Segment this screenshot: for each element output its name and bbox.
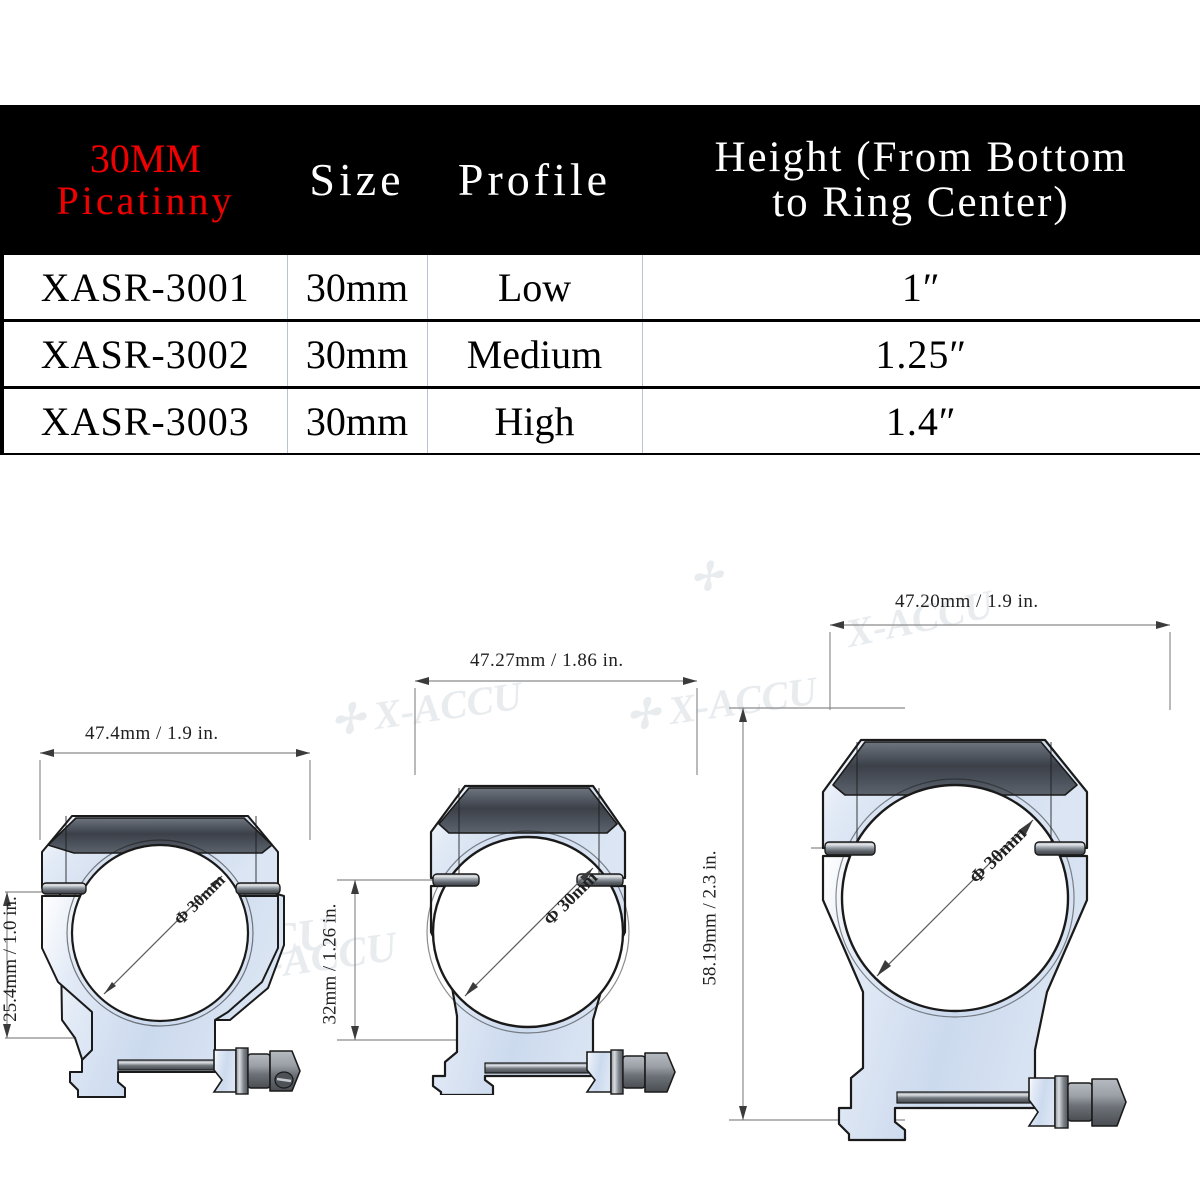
cell-size: 30mm (287, 255, 427, 321)
arrowhead (415, 677, 429, 685)
cell-size: 30mm (287, 321, 427, 388)
header-cell-height: Height (From Bottom to Ring Center) (642, 105, 1200, 255)
dimension-width-label-low: 47.4mm / 1.9 in. (85, 723, 219, 745)
clamp-plate (236, 1048, 248, 1094)
cell-model: XASR-3001 (2, 255, 287, 321)
cell-height: 1″ (642, 255, 1200, 321)
arrowhead (1156, 621, 1170, 629)
hex-nut (1092, 1079, 1126, 1126)
dimension-height-label-high: 58.19mm / 2.3 in. (700, 850, 722, 985)
header-profile-label: Profile (427, 156, 642, 204)
header-cell-size: Size (287, 105, 427, 255)
split-boss-left (433, 874, 479, 886)
diagram-low-profile: 47.4mm / 1.9 in. 25.4mm / 1.0 in. Φ 30mm (0, 720, 340, 1100)
cell-size: 30mm (287, 388, 427, 456)
recoil-lug (214, 1050, 236, 1092)
diagram-medium-profile: 47.27mm / 1.86 in. 32mm / 1.26 in. Φ 30m… (325, 640, 725, 1095)
split-boss-right (1035, 842, 1085, 855)
arrowhead (739, 708, 747, 722)
header-30mm-label: 30MM (4, 138, 287, 180)
arrowhead (683, 677, 697, 685)
cap-top-bevel (439, 788, 617, 833)
header-height-line2: to Ring Center) (642, 180, 1200, 225)
spec-table: 30MM Picatinny Size Profile Height (From… (0, 105, 1200, 457)
split-boss-left (825, 842, 875, 855)
header-cell-model: 30MM Picatinny (2, 105, 287, 255)
cell-profile: Low (427, 255, 642, 321)
bolt-shoulder (1068, 1083, 1092, 1121)
cell-profile: Medium (427, 321, 642, 388)
dimension-width-medium (415, 681, 697, 775)
dimension-width-label-high: 47.20mm / 1.9 in. (895, 591, 1039, 613)
table-header-row: 30MM Picatinny Size Profile Height (From… (2, 105, 1200, 255)
arrowhead (739, 1106, 747, 1120)
header-cell-profile: Profile (427, 105, 642, 255)
hex-nut (645, 1053, 675, 1092)
table-row: XASR-3001 30mm Low 1″ (2, 255, 1200, 321)
arrowhead (40, 749, 54, 757)
bolt-shoulder (248, 1054, 270, 1088)
arrowhead (296, 749, 310, 757)
table-row: XASR-3002 30mm Medium 1.25″ (2, 321, 1200, 388)
bolt-shoulder (623, 1056, 645, 1088)
dimension-width-high (830, 625, 1170, 710)
header-picatinny-label: Picatinny (4, 180, 287, 222)
cell-height: 1.4″ (642, 388, 1200, 456)
table-row: XASR-3003 30mm High 1.4″ (2, 388, 1200, 456)
clamp-plate (1055, 1076, 1068, 1128)
recoil-lug (587, 1052, 611, 1092)
cell-height: 1.25″ (642, 321, 1200, 388)
clamp-plate (611, 1050, 623, 1094)
cell-model: XASR-3003 (2, 388, 287, 456)
header-size-label: Size (287, 156, 427, 204)
cell-profile: High (427, 388, 642, 456)
arrowhead (351, 1026, 359, 1040)
header-height-line1: Height (From Bottom (642, 135, 1200, 180)
cross-bolt-rod (485, 1063, 589, 1073)
arrowhead (351, 880, 359, 894)
cross-bolt-rod (118, 1060, 218, 1070)
bore-circle (72, 845, 248, 1021)
split-boss-left (42, 883, 86, 894)
arrowhead (3, 1024, 11, 1038)
recoil-lug (1029, 1078, 1055, 1126)
diagram-high-profile: 47.20mm / 1.9 in. 58.19mm / 2.3 in. Φ 30… (715, 580, 1200, 1160)
dimension-height-label-medium: 32mm / 1.26 in. (319, 904, 341, 1025)
dimension-width-label-medium: 47.27mm / 1.86 in. (470, 650, 624, 672)
cell-model: XASR-3002 (2, 321, 287, 388)
technical-drawings-panel: ✢ X-ACCU ✢ X-ACCU ✢ X-ACCU ✢ X-ACCU ✢ X-… (0, 455, 1200, 1200)
dimension-height-label-low: 25.4mm / 1.0 in. (0, 896, 22, 1022)
bore-circle (433, 837, 623, 1027)
specification-table: 30MM Picatinny Size Profile Height (From… (0, 105, 1200, 457)
split-boss-right (236, 883, 280, 894)
cross-bolt-rod (897, 1092, 1031, 1103)
arrowhead (830, 621, 844, 629)
